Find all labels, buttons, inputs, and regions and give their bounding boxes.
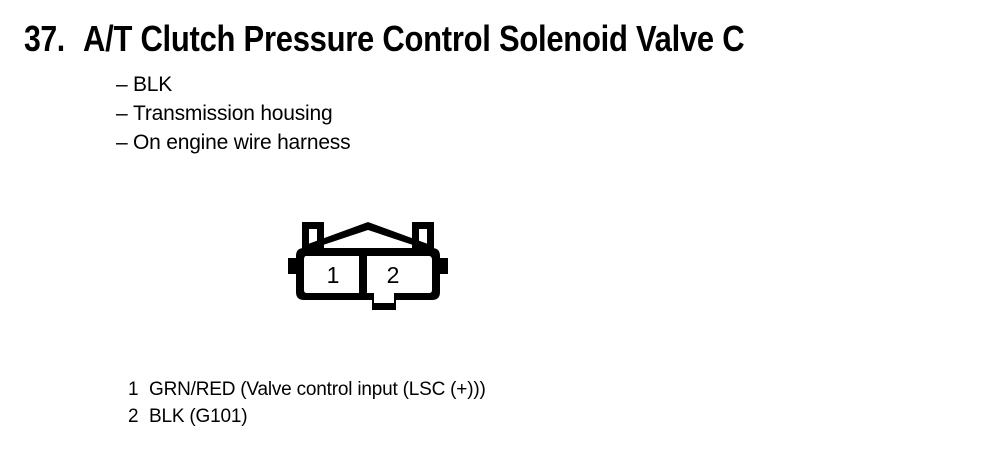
spec-list: – BLK – Transmission housing – On engine… [116, 70, 616, 157]
spec-item-label: Transmission housing [133, 99, 332, 128]
spec-item: – Transmission housing [116, 99, 616, 128]
pin-legend-row: 1 GRN/RED (Valve control input (LSC (+))… [128, 376, 768, 403]
dash-bullet-icon: – [116, 99, 133, 128]
pin-legend-number: 2 [128, 403, 149, 430]
connector-diagram: 1 2 [276, 206, 460, 324]
connector-body [288, 248, 448, 310]
spec-item-label: On engine wire harness [133, 128, 350, 157]
connector-roof-peak [308, 222, 428, 250]
spec-item: – BLK [116, 70, 616, 99]
page-title: 37. A/T Clutch Pressure Control Solenoid… [24, 18, 984, 64]
dash-bullet-icon: – [116, 70, 133, 99]
component-title: A/T Clutch Pressure Control Solenoid Val… [83, 18, 744, 60]
spec-item: – On engine wire harness [116, 128, 616, 157]
pin-legend-description: GRN/RED (Valve control input (LSC (+))) [149, 376, 486, 403]
connector-pin-divider [359, 254, 367, 295]
dash-bullet-icon: – [116, 128, 133, 157]
pin-legend-row: 2 BLK (G101) [128, 403, 768, 430]
item-number: 37. [24, 18, 65, 60]
pin-legend-description: BLK (G101) [149, 403, 247, 430]
pin-legend: 1 GRN/RED (Valve control input (LSC (+))… [128, 376, 768, 430]
pin-cavity-2-number: 2 [387, 262, 400, 288]
spec-item-label: BLK [133, 70, 172, 99]
pin-cavity-1-number: 1 [327, 262, 340, 288]
pin-legend-number: 1 [128, 376, 149, 403]
